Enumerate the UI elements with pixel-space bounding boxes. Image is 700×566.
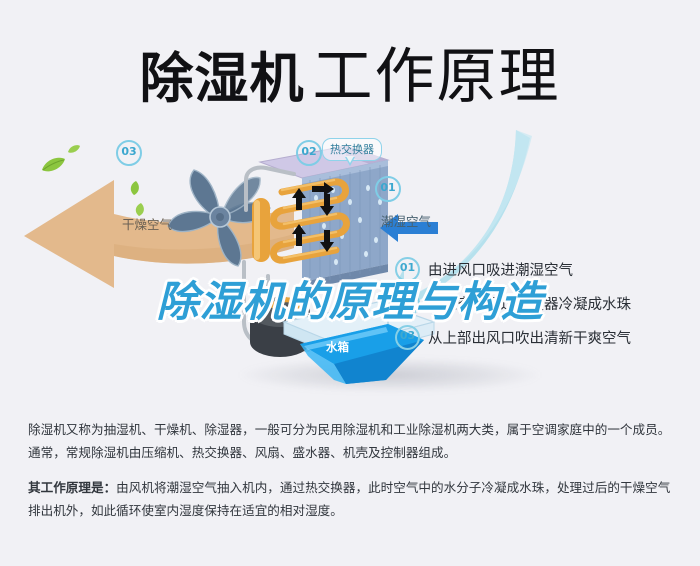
illustration-badge-03: 03 [116, 140, 142, 166]
title-secondary: 工作原理 [313, 42, 561, 112]
infographic-page: 除湿机工作原理 [0, 0, 700, 566]
title-primary: 除湿机 [140, 47, 305, 110]
page-title: 除湿机工作原理 [0, 28, 700, 115]
leaf-icon [67, 144, 81, 154]
label-water-tank: 水箱 [326, 339, 349, 355]
paragraph-2-rest: 由风机将潮湿空气抽入机内，通过热交换器，此时空气中的水分子冷凝成水珠，处理过后的… [28, 480, 670, 518]
body-copy: 除湿机又称为抽湿机、干燥机、除湿器，一般可分为民用除湿机和工业除湿机两大类，属于… [28, 418, 678, 534]
list-item: 03 从上部出风口吹出清新干爽空气 [395, 320, 695, 354]
step-text-01: 由进风口吸进潮湿空气 [428, 259, 573, 280]
illustration-badge-01: 01 [375, 176, 401, 202]
step-badge-02: 02 [395, 291, 420, 316]
step-text-02: 潮湿空气经过蒸发器冷凝成水珠 [428, 293, 631, 314]
paragraph-2-lead: 其工作原理是： [28, 480, 116, 495]
illustration-badge-02: 02 [296, 140, 322, 166]
paragraph-2: 其工作原理是：由风机将潮湿空气抽入机内，通过热交换器，此时空气中的水分子冷凝成水… [28, 476, 678, 522]
list-item: 01 由进风口吸进潮湿空气 [395, 252, 695, 286]
step-badge-01: 01 [395, 257, 420, 282]
steps-list: 01 由进风口吸进潮湿空气 02 潮湿空气经过蒸发器冷凝成水珠 03 从上部出风… [395, 252, 695, 354]
step-badge-03: 03 [395, 325, 420, 350]
label-humid-air: 潮湿空气 [381, 211, 431, 230]
label-dry-air: 干燥空气 [122, 214, 172, 233]
callout-tail-icon [345, 157, 355, 166]
list-item: 02 潮湿空气经过蒸发器冷凝成水珠 [395, 286, 695, 320]
leaf-icon [128, 180, 142, 196]
leaf-icon [40, 156, 66, 174]
step-text-03: 从上部出风口吹出清新干爽空气 [428, 327, 631, 348]
paragraph-1: 除湿机又称为抽湿机、干燥机、除湿器，一般可分为民用除湿机和工业除湿机两大类，属于… [28, 418, 678, 464]
